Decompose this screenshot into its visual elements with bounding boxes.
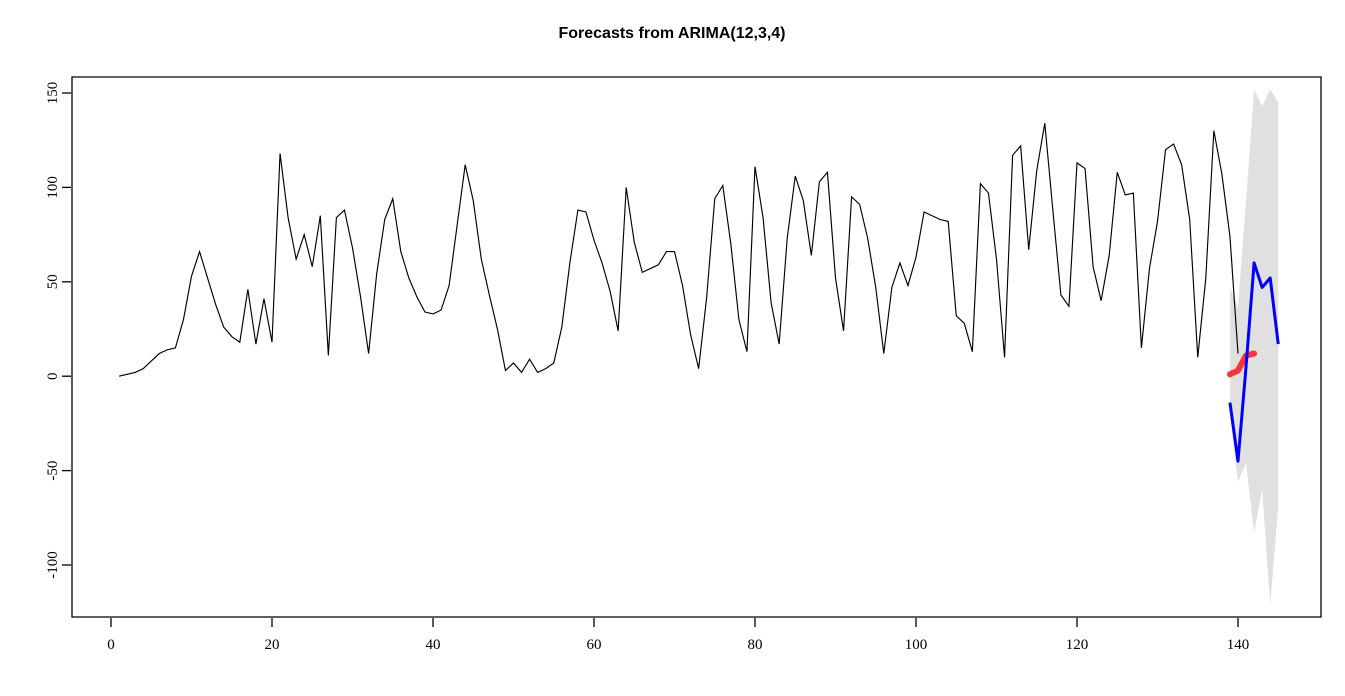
y-tick-label: 150 bbox=[45, 82, 61, 105]
y-tick-label: 50 bbox=[45, 274, 61, 289]
x-tick-label: 120 bbox=[1066, 637, 1089, 653]
plot-canvas: Forecasts from ARIMA(12,3,4) 02040608010… bbox=[0, 0, 1345, 696]
x-tick-label: 140 bbox=[1227, 637, 1250, 653]
y-tick-label: -100 bbox=[45, 551, 61, 579]
page-title: Forecasts from ARIMA(12,3,4) bbox=[558, 25, 785, 42]
x-tick-label: 0 bbox=[107, 637, 115, 653]
forecast-plot-root: Forecasts from ARIMA(12,3,4) 02040608010… bbox=[0, 0, 1345, 696]
y-tick-label: 0 bbox=[45, 372, 61, 380]
plot-background bbox=[0, 0, 1345, 696]
x-tick-label: 20 bbox=[265, 637, 280, 653]
y-tick-label: 100 bbox=[45, 176, 61, 199]
x-tick-label: 100 bbox=[905, 637, 928, 653]
x-tick-label: 40 bbox=[426, 637, 441, 653]
x-tick-label: 80 bbox=[748, 637, 763, 653]
x-tick-label: 60 bbox=[587, 637, 602, 653]
y-tick-label: -50 bbox=[45, 461, 61, 481]
